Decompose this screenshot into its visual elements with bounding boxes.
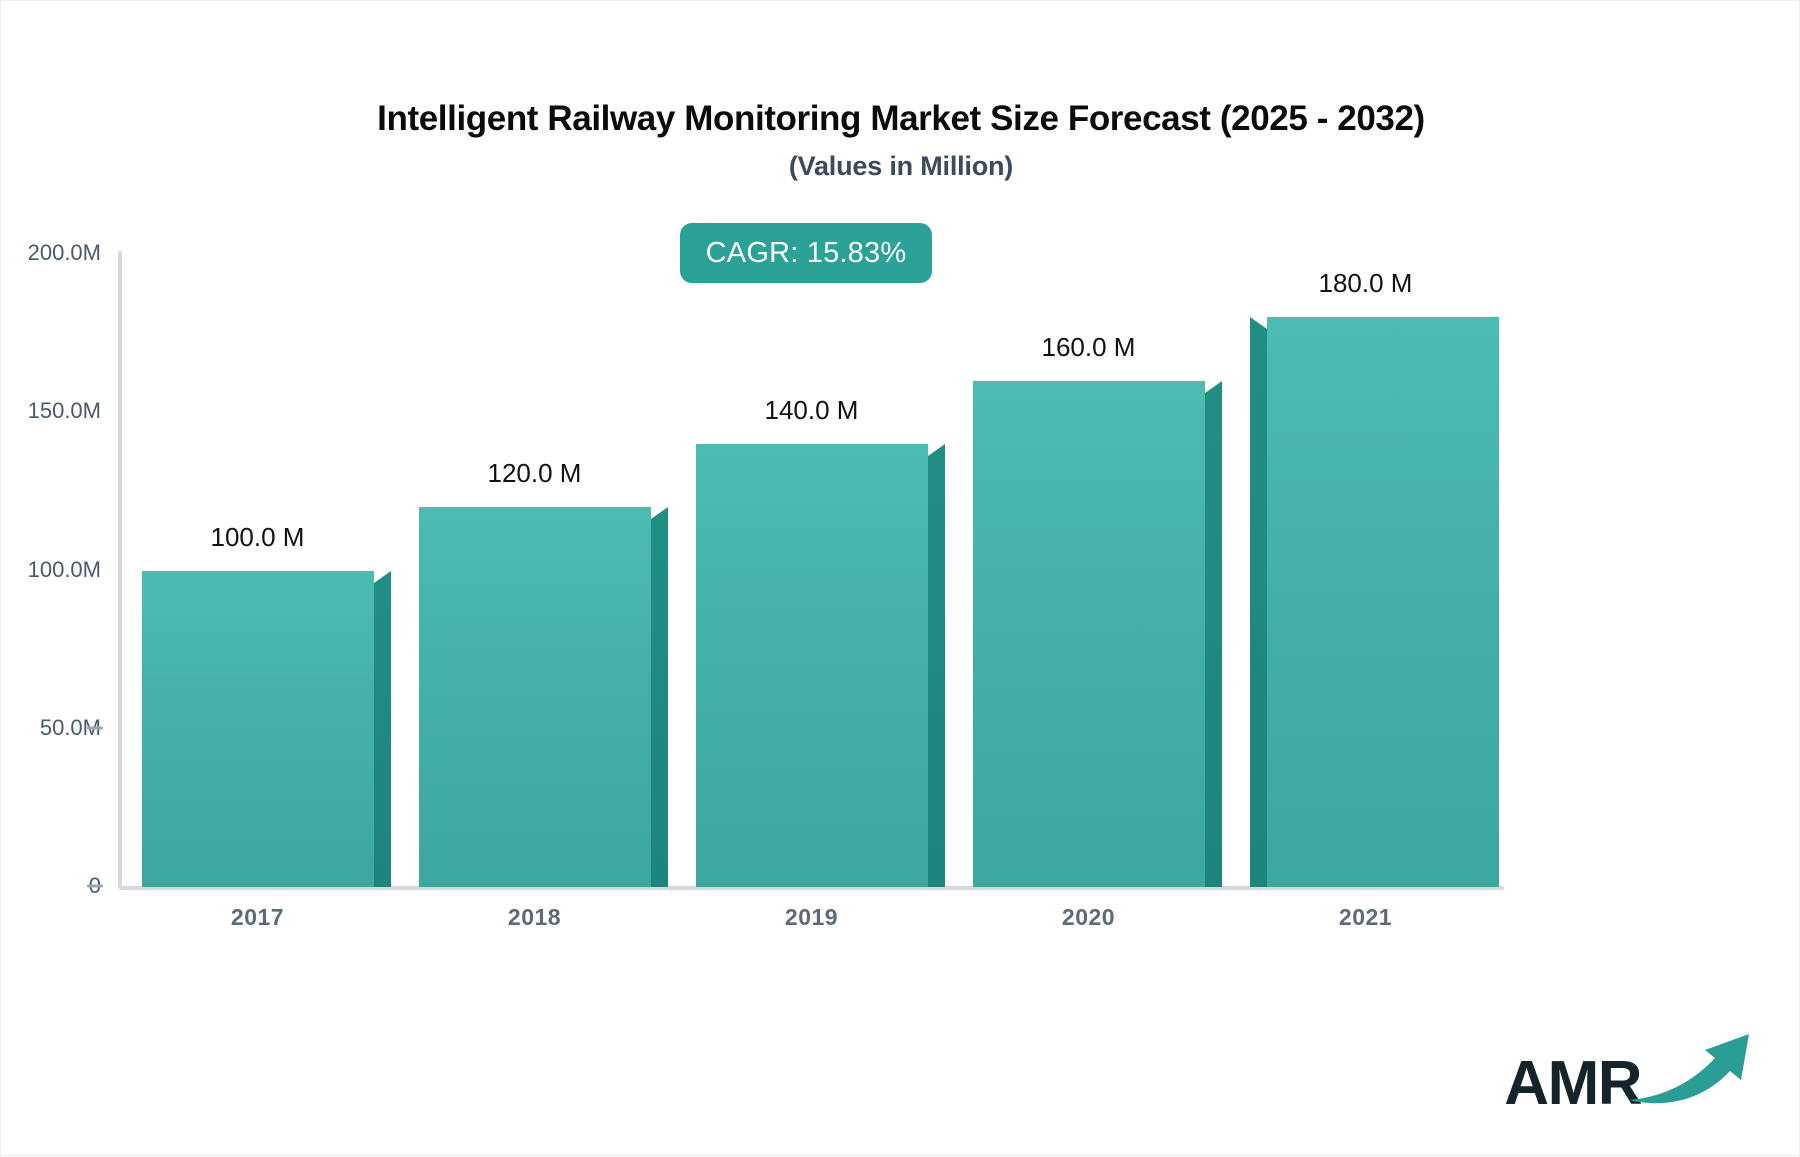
logo-text: AMR [1504,1053,1641,1115]
bar-face [1267,317,1499,887]
chart-canvas: Intelligent Railway Monitoring Market Si… [0,0,1800,1156]
y-axis-tick-mark [87,885,103,888]
x-axis-label-2017: 2017 [128,904,388,931]
bar-value-label: 120.0 M [405,458,665,489]
bar-side-cap [651,507,668,519]
y-axis-tick-group: 050.0M100.0M150.0M200.0M [1,1,101,1157]
bar-value-label: 140.0 M [682,395,942,426]
amr-logo: AMR [1504,1028,1757,1115]
bar-side-cap [1205,381,1222,393]
growth-arrow-icon [1627,1028,1757,1111]
y-axis-tick-label: 200.0M [28,240,101,266]
x-axis-label-2018: 2018 [405,904,665,931]
bar-face [696,444,928,887]
bar-face [973,381,1205,887]
bar-value-label: 100.0 M [128,522,388,553]
bar-side-panel [1205,393,1222,887]
bar-2021[interactable] [1250,317,1499,887]
y-axis-tick-label: 150.0M [28,398,101,424]
chart-subtitle: (Values in Million) [1,151,1800,182]
x-axis-label-2021: 2021 [1236,904,1496,931]
bar-2018[interactable] [419,507,668,887]
y-axis-tick-mark [87,726,103,729]
x-axis-label-2020: 2020 [959,904,1219,931]
bar-value-label: 160.0 M [959,332,1219,363]
plot-area: 100.0 M120.0 M140.0 M160.0 M180.0 M [119,253,1504,887]
bar-side-panel [651,519,668,887]
bar-side-cap [928,444,945,456]
bar-face [419,507,651,887]
bar-face [142,571,374,888]
bar-2017[interactable] [142,571,391,888]
bar-side-panel [928,456,945,887]
bar-side-cap [374,571,391,583]
chart-title: Intelligent Railway Monitoring Market Si… [1,99,1800,139]
bar-value-label: 180.0 M [1236,268,1496,299]
x-axis-label-2019: 2019 [682,904,942,931]
bar-2019[interactable] [696,444,945,887]
bar-2020[interactable] [973,381,1222,887]
bar-side-cap [1250,317,1267,329]
bar-side-panel [374,583,391,888]
y-axis-tick-label: 100.0M [28,557,101,583]
bar-side-panel [1250,329,1267,887]
